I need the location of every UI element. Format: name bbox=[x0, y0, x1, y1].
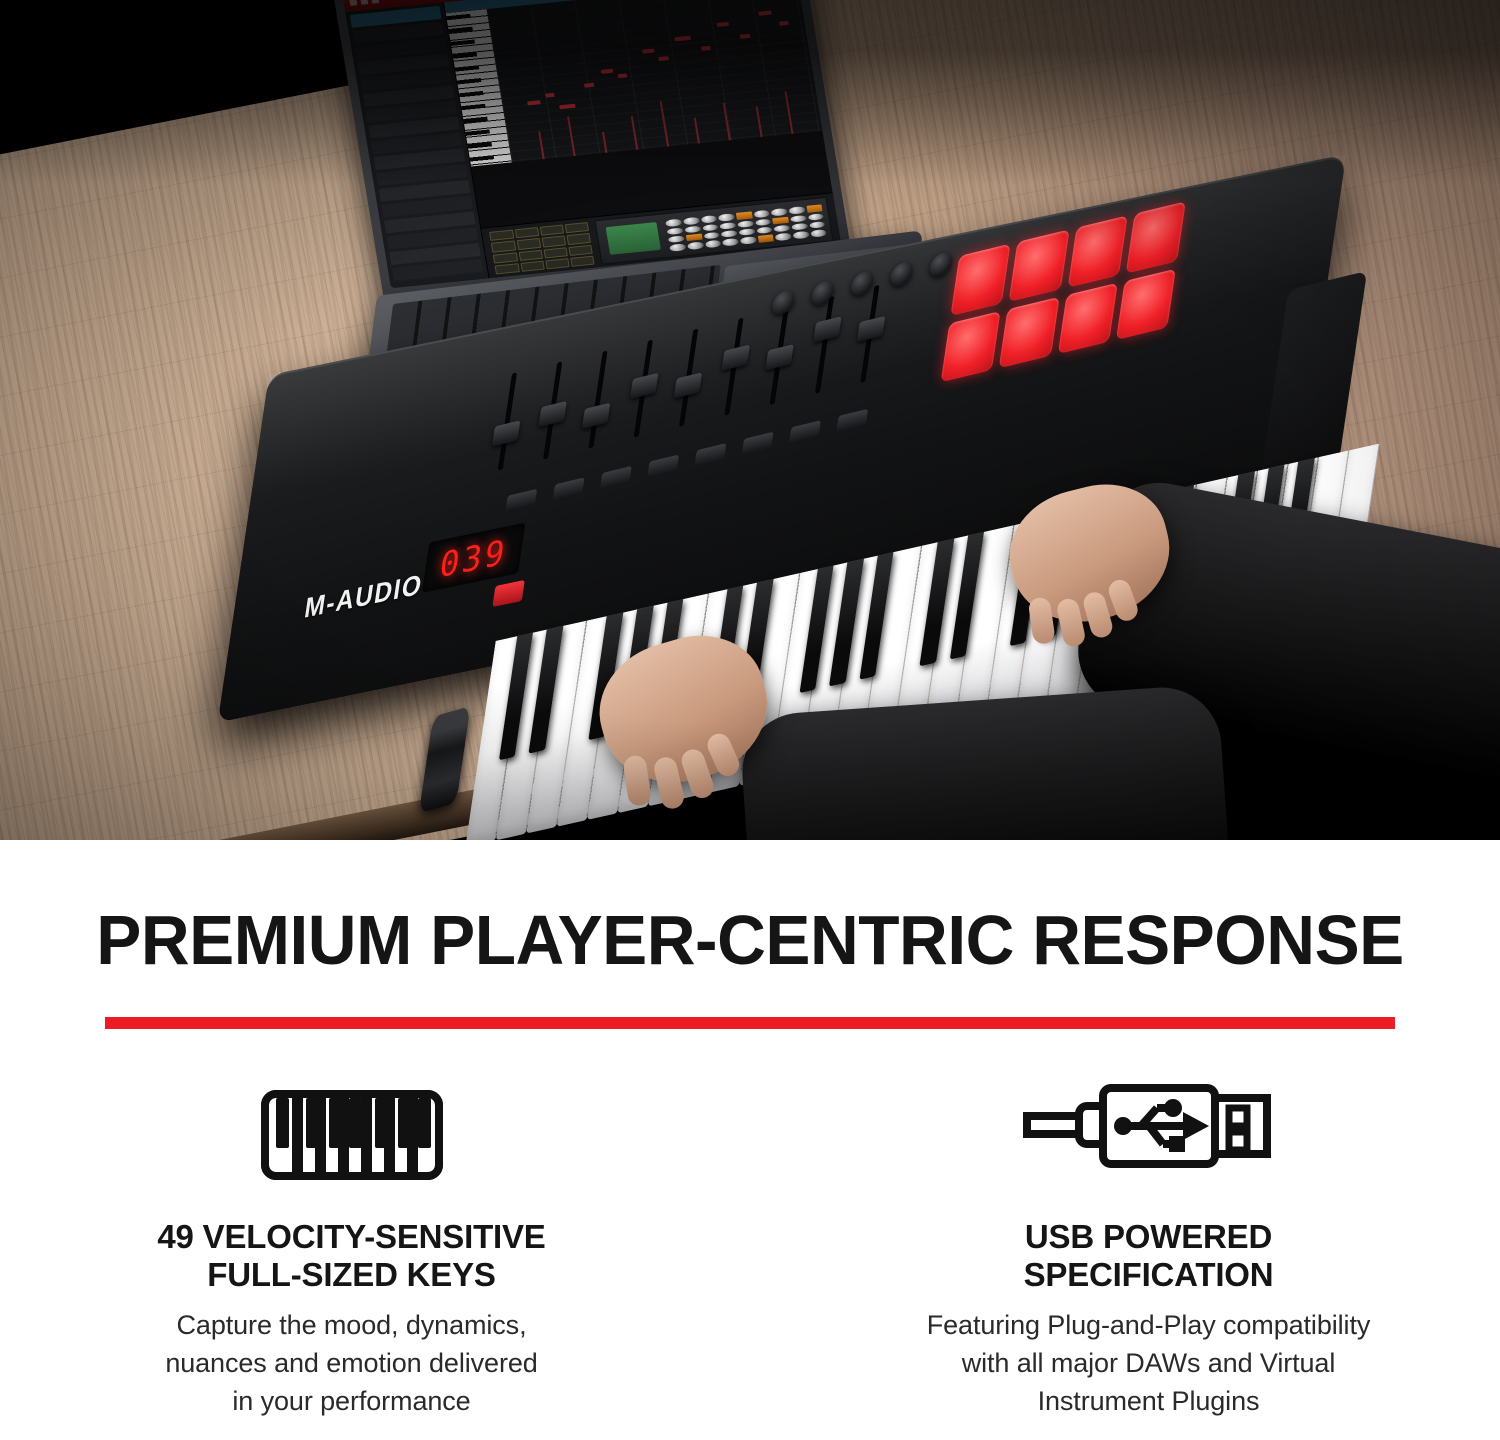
feature-usb: USB POWERED SPECIFICATION Featuring Plug… bbox=[745, 1080, 1500, 1421]
knob[interactable] bbox=[928, 250, 953, 278]
feature-title-line2: FULL-SIZED KEYS bbox=[157, 1256, 545, 1294]
fader[interactable] bbox=[709, 308, 757, 439]
feature-desc-line3: Instrument Plugins bbox=[927, 1382, 1371, 1420]
daw-pad-grid bbox=[490, 222, 595, 274]
product-feature-page: M-AUDIO OXYGEN49 039 bbox=[0, 0, 1500, 1440]
black-key[interactable] bbox=[499, 633, 534, 760]
accent-divider bbox=[105, 1017, 1395, 1029]
pitch-bend-wheel[interactable] bbox=[419, 706, 471, 813]
piano-keys-icon bbox=[261, 1080, 443, 1180]
feature-title: 49 VELOCITY-SENSITIVE FULL-SIZED KEYS bbox=[157, 1218, 545, 1295]
feature-desc-line3: in your performance bbox=[165, 1382, 537, 1420]
feature-keys: 49 VELOCITY-SENSITIVE FULL-SIZED KEYS Ca… bbox=[0, 1080, 745, 1421]
hero-product-photo: M-AUDIO OXYGEN49 039 bbox=[0, 0, 1500, 840]
knob[interactable] bbox=[850, 269, 875, 297]
page-title: PREMIUM PLAYER-CENTRIC RESPONSE bbox=[26, 900, 1474, 980]
knob[interactable] bbox=[771, 288, 796, 316]
black-key[interactable] bbox=[919, 539, 954, 666]
feature-title-line2: SPECIFICATION bbox=[1024, 1256, 1274, 1294]
feature-title-line1: 49 VELOCITY-SENSITIVE bbox=[157, 1218, 545, 1256]
feature-description: Capture the mood, dynamics, nuances and … bbox=[165, 1306, 537, 1421]
daw-piano-roll bbox=[487, 0, 823, 163]
feature-title: USB POWERED SPECIFICATION bbox=[1024, 1218, 1274, 1295]
feature-description: Featuring Plug-and-Play compatibility wi… bbox=[927, 1306, 1371, 1421]
feature-desc-line2: with all major DAWs and Virtual bbox=[927, 1344, 1371, 1382]
feature-section: PREMIUM PLAYER-CENTRIC RESPONSE bbox=[0, 840, 1500, 1440]
usb-plug-icon bbox=[1023, 1080, 1275, 1180]
black-key[interactable] bbox=[529, 626, 564, 753]
fader[interactable] bbox=[619, 330, 667, 461]
feature-desc-line1: Capture the mood, dynamics, bbox=[165, 1306, 537, 1344]
knob[interactable] bbox=[889, 260, 914, 288]
led-display-value: 039 bbox=[437, 530, 510, 585]
black-key[interactable] bbox=[859, 552, 894, 679]
black-key[interactable] bbox=[829, 559, 864, 686]
fader[interactable] bbox=[664, 319, 712, 450]
laptop-screen-daw bbox=[342, 0, 841, 288]
feature-title-line1: USB POWERED bbox=[1024, 1218, 1274, 1256]
feature-desc-line1: Featuring Plug-and-Play compatibility bbox=[927, 1306, 1371, 1344]
feature-desc-line2: nuances and emotion delivered bbox=[165, 1344, 537, 1382]
black-key[interactable] bbox=[799, 565, 834, 692]
black-key[interactable] bbox=[949, 532, 984, 659]
knob[interactable] bbox=[810, 279, 835, 307]
fader[interactable] bbox=[528, 352, 576, 483]
synth-plugin-logo bbox=[606, 222, 661, 255]
fader[interactable] bbox=[573, 341, 621, 472]
feature-columns: 49 VELOCITY-SENSITIVE FULL-SIZED KEYS Ca… bbox=[0, 1080, 1500, 1421]
